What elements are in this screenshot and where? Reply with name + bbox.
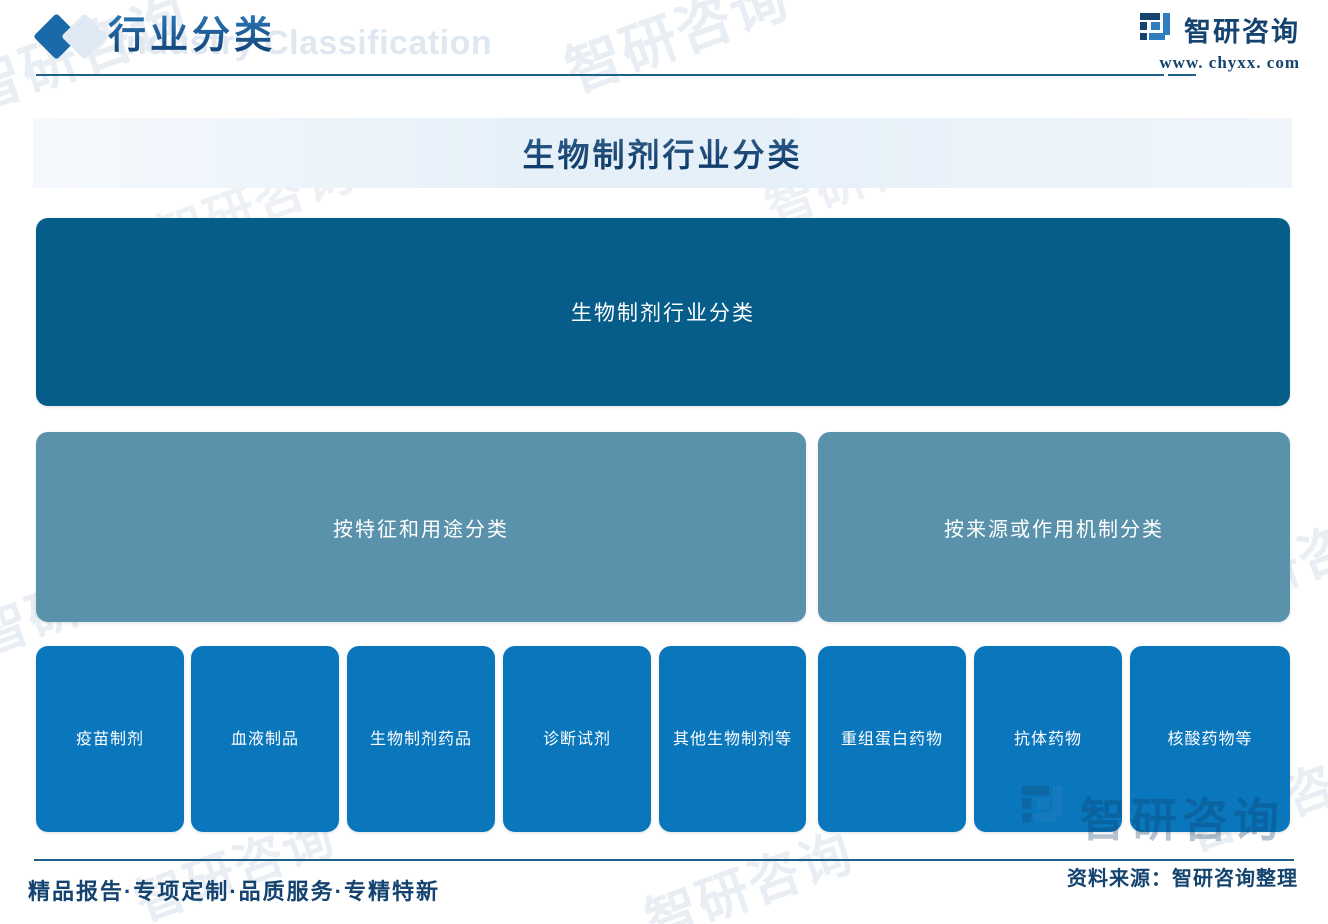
slide-page: 智研咨询 智研咨询 智研咨询 智研咨询 智研咨询 智研咨询 智研咨询 智研咨询 … (0, 0, 1328, 924)
brand-name: 智研咨询 (1184, 10, 1300, 49)
diagram-leaf-label: 疫苗制剂 (76, 727, 144, 752)
diagram-root-node: 生物制剂行业分类 (36, 218, 1290, 406)
diagram-branch-label: 按特征和用途分类 (333, 513, 509, 542)
header-divider-right (1168, 74, 1196, 76)
brand-block: 智研咨询 www. chyxx. com (1140, 10, 1300, 73)
header-divider (36, 74, 1164, 76)
title-banner: 生物制剂行业分类 (33, 118, 1292, 188)
page-header: Industry Classification 行业分类 (0, 0, 1328, 92)
footer-divider (34, 859, 1294, 861)
header-title-wrap: Industry Classification 行业分类 (108, 8, 276, 66)
diagram-leaf-label: 重组蛋白药物 (841, 727, 943, 752)
diagram-branch-node-2: 按来源或作用机制分类 (818, 432, 1290, 622)
title-banner-text: 生物制剂行业分类 (522, 130, 802, 176)
diagram-branch-node-1: 按特征和用途分类 (36, 432, 806, 622)
diagram-leaf-node: 疫苗制剂 (36, 646, 184, 832)
diagram-leaf-node: 其他生物制剂等 (659, 646, 806, 832)
diagram-leaf-label: 其他生物制剂等 (673, 727, 792, 752)
diagram-leaf-node: 抗体药物 (974, 646, 1122, 832)
diagram-leaf-label: 抗体药物 (1014, 727, 1082, 752)
brand-url: www. chyxx. com (1140, 53, 1300, 73)
diagram-leaf-label: 血液制品 (231, 727, 299, 752)
source-note: 资料来源：智研咨询整理 (1067, 862, 1298, 891)
diamond-icon (38, 14, 116, 60)
diagram-leaf-node: 重组蛋白药物 (818, 646, 966, 832)
footer-slogan: 精品报告·专项定制·品质服务·专精特新 (28, 874, 440, 906)
diagram-leaf-label: 诊断试剂 (543, 727, 611, 752)
diagram-leaf-node: 核酸药物等 (1130, 646, 1290, 832)
diagram-leaf-node: 生物制剂药品 (347, 646, 495, 832)
diagram-branch-label: 按来源或作用机制分类 (944, 513, 1164, 542)
diagram-leaf-label: 生物制剂药品 (370, 727, 472, 752)
page-title: 行业分类 (108, 8, 276, 64)
diagram-leaf-label: 核酸药物等 (1167, 727, 1252, 752)
diagram-leaf-node: 诊断试剂 (503, 646, 651, 832)
diagram-root-label: 生物制剂行业分类 (571, 297, 755, 327)
diagram-leaf-node: 血液制品 (191, 646, 339, 832)
classification-diagram: 生物制剂行业分类 按特征和用途分类 按来源或作用机制分类 疫苗制剂 血液制品 生… (36, 218, 1290, 832)
zhiyan-logo-icon (1140, 13, 1174, 47)
